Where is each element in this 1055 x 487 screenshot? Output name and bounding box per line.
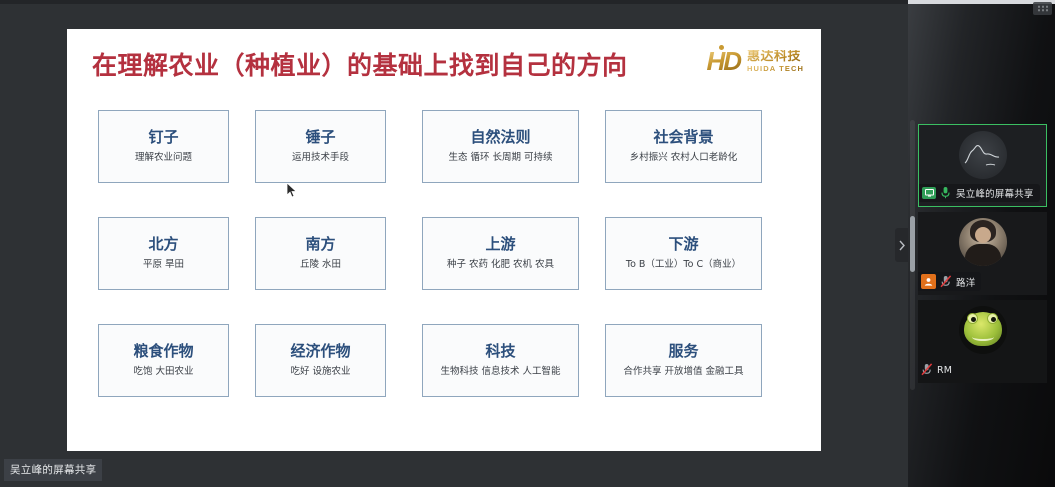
avatar-frog-pupil — [991, 317, 996, 322]
card-row: 粮食作物 吃饱 大田农业 经济作物 吃好 设施农业 科技 生物科技 信息技术 人… — [98, 324, 790, 397]
mic-off-icon — [921, 363, 933, 377]
mic-off-icon — [940, 275, 952, 289]
concept-card: 粮食作物 吃饱 大田农业 — [98, 324, 229, 397]
avatar — [959, 218, 1007, 266]
tile-footer: 吴立峰的屏幕共享 — [919, 184, 1040, 202]
card-subtitle: 丘陵 水田 — [300, 260, 341, 271]
participant-tile[interactable]: 吴立峰的屏幕共享 — [918, 124, 1047, 207]
card-title: 南方 — [305, 236, 335, 253]
card-subtitle: 合作共享 开放增值 金融工具 — [623, 367, 743, 378]
concept-card: 经济作物 吃好 设施农业 — [255, 324, 386, 397]
participant-name: 吴立峰的屏幕共享 — [956, 186, 1034, 200]
concept-card-grid: 钉子 理解农业问题 锤子 运用技术手段 自然法则 生态 循环 长周期 可持续 — [98, 110, 790, 420]
card-subtitle: 生态 循环 长周期 可持续 — [448, 153, 552, 164]
spacer — [579, 110, 605, 183]
concept-card: 北方 平原 旱田 — [98, 217, 229, 290]
logo-name-en: HUIDA TECH — [747, 65, 804, 73]
share-top-strip — [0, 0, 908, 4]
card-title: 服务 — [668, 343, 698, 360]
card-subtitle: 吃饱 大田农业 — [133, 367, 193, 378]
participant-video-panel: 吴立峰的屏幕共享 路洋 — [908, 0, 1055, 487]
screen-share-icon — [922, 187, 936, 199]
participant-tile[interactable]: RM — [918, 300, 1047, 383]
card-subtitle: 理解农业问题 — [135, 153, 192, 164]
avatar-frog-eye-right — [987, 313, 998, 324]
avatar-frog-eye-left — [967, 313, 978, 324]
mic-on-icon — [940, 186, 952, 200]
logo-name-cn: 惠达科技 — [747, 50, 804, 63]
share-status-label: 吴立峰的屏幕共享 — [4, 459, 102, 481]
spacer — [386, 217, 422, 290]
panel-options-button[interactable] — [1033, 2, 1052, 15]
concept-card: 钉子 理解农业问题 — [98, 110, 229, 183]
card-subtitle: To B（工业）To C（商业） — [626, 260, 741, 271]
avatar — [959, 306, 1007, 354]
concept-card: 社会背景 乡村振兴 农村人口老龄化 — [605, 110, 762, 183]
logo-monogram-icon: HD — [706, 48, 742, 74]
card-subtitle: 平原 旱田 — [143, 260, 184, 271]
spacer — [386, 110, 422, 183]
avatar — [959, 131, 1007, 179]
card-title: 自然法则 — [470, 129, 530, 146]
card-subtitle: 乡村振兴 农村人口老龄化 — [630, 153, 738, 164]
participant-name: 路洋 — [956, 275, 975, 289]
slide-header: 在理解农业（种植业）的基础上找到自己的方向 HD 惠达科技 HUIDA TECH — [68, 30, 820, 102]
meeting-screen-share-window: 在理解农业（种植业）的基础上找到自己的方向 HD 惠达科技 HUIDA TECH… — [0, 0, 1055, 487]
collapse-panel-button[interactable] — [895, 228, 908, 262]
tile-footer: RM — [918, 361, 958, 379]
card-subtitle: 吃好 设施农业 — [290, 367, 350, 378]
card-title: 科技 — [485, 343, 515, 360]
card-subtitle: 运用技术手段 — [292, 153, 349, 164]
card-title: 上游 — [485, 236, 515, 253]
concept-card: 科技 生物科技 信息技术 人工智能 — [422, 324, 579, 397]
card-title: 粮食作物 — [133, 343, 193, 360]
card-subtitle: 生物科技 信息技术 人工智能 — [440, 367, 560, 378]
company-logo: HD 惠达科技 HUIDA TECH — [706, 48, 804, 74]
presentation-slide: 在理解农业（种植业）的基础上找到自己的方向 HD 惠达科技 HUIDA TECH… — [68, 30, 820, 450]
spacer — [579, 217, 605, 290]
avatar-frog-pupil — [971, 317, 976, 322]
host-badge-icon — [921, 274, 936, 289]
participant-tile[interactable]: 路洋 — [918, 212, 1047, 295]
card-row: 钉子 理解农业问题 锤子 运用技术手段 自然法则 生态 循环 长周期 可持续 — [98, 110, 790, 183]
participant-name: RM — [937, 365, 952, 376]
concept-card: 自然法则 生态 循环 长周期 可持续 — [422, 110, 579, 183]
avatar-body — [965, 244, 1001, 266]
spacer — [229, 110, 255, 183]
card-row: 北方 平原 旱田 南方 丘陵 水田 上游 种子 农药 化肥 农机 农具 — [98, 217, 790, 290]
tile-footer: 路洋 — [918, 272, 981, 291]
avatar-face — [975, 227, 991, 243]
card-title: 北方 — [148, 236, 178, 253]
grid-dots-icon — [1037, 5, 1049, 12]
card-title: 社会背景 — [653, 129, 713, 146]
spacer — [579, 324, 605, 397]
panel-scrollbar-thumb[interactable] — [910, 216, 915, 272]
card-title: 钉子 — [148, 129, 178, 146]
card-subtitle: 种子 农药 化肥 农机 农具 — [447, 260, 554, 271]
shared-screen-area: 在理解农业（种植业）的基础上找到自己的方向 HD 惠达科技 HUIDA TECH… — [0, 0, 908, 487]
concept-card: 服务 合作共享 开放增值 金融工具 — [605, 324, 762, 397]
logo-text: 惠达科技 HUIDA TECH — [747, 50, 804, 73]
spacer — [229, 217, 255, 290]
spacer — [229, 324, 255, 397]
card-title: 锤子 — [305, 129, 335, 146]
card-title: 下游 — [668, 236, 698, 253]
card-title: 经济作物 — [290, 343, 350, 360]
page-title: 在理解农业（种植业）的基础上找到自己的方向 — [92, 46, 628, 82]
concept-card: 南方 丘陵 水田 — [255, 217, 386, 290]
spacer — [386, 324, 422, 397]
concept-card: 锤子 运用技术手段 — [255, 110, 386, 183]
chevron-right-icon — [899, 240, 905, 251]
concept-card: 下游 To B（工业）To C（商业） — [605, 217, 762, 290]
avatar-frog-mouth — [972, 333, 994, 341]
concept-card: 上游 种子 农药 化肥 农机 农具 — [422, 217, 579, 290]
